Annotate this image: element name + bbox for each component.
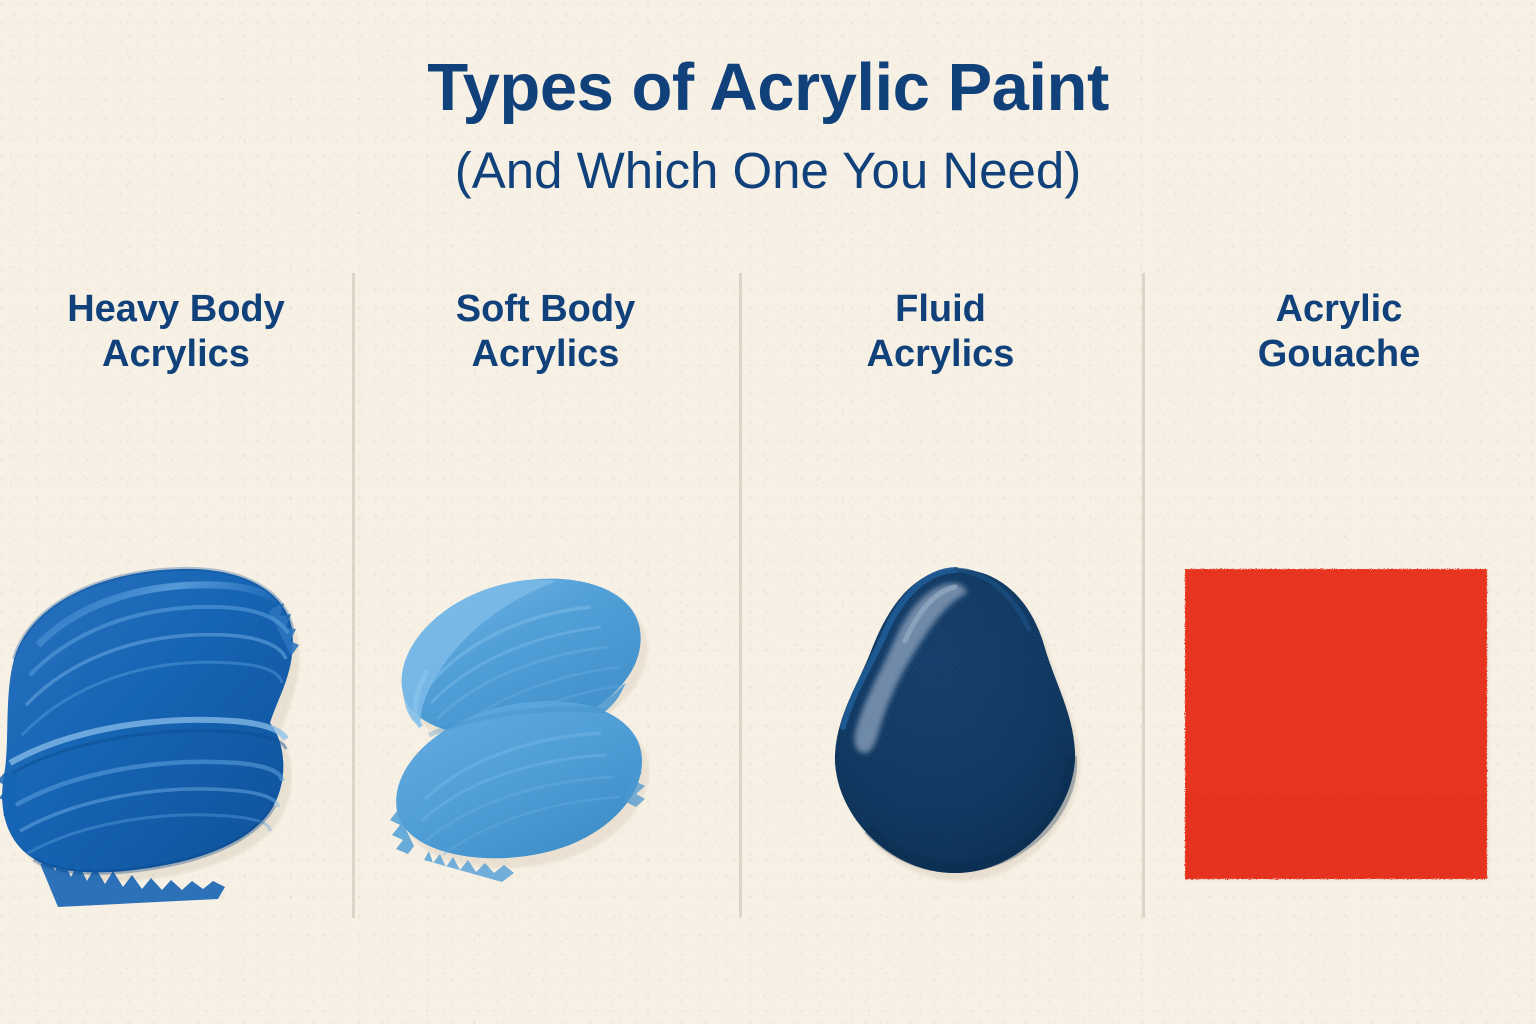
- swatch-area-heavy-body: [0, 377, 352, 918]
- column-acrylic-gouache: Acrylic Gouache: [1142, 273, 1536, 918]
- column-fluid-acrylics: Fluid Acrylics: [739, 273, 1142, 918]
- page-title: Types of Acrylic Paint: [0, 52, 1536, 123]
- swatch-area-fluid: [739, 377, 1142, 918]
- column-soft-body-acrylics: Soft Body Acrylics: [352, 273, 739, 918]
- column-heavy-body-acrylics: Heavy Body Acrylics: [0, 273, 352, 918]
- acrylic-gouache-swatch: [1181, 565, 1491, 883]
- heavy-body-paint-smear: [0, 549, 316, 912]
- column-label-fluid: Fluid Acrylics: [867, 287, 1015, 377]
- column-label-gouache: Acrylic Gouache: [1258, 287, 1421, 377]
- column-label-soft-body: Soft Body Acrylics: [456, 287, 635, 377]
- swatch-area-soft-body: [352, 377, 739, 918]
- header: Types of Acrylic Paint (And Which One Yo…: [0, 0, 1536, 198]
- fluid-paint-drop: [825, 561, 1087, 883]
- soft-body-paint-smear: [369, 555, 675, 900]
- swatch-area-gouache: [1142, 377, 1536, 918]
- column-label-heavy-body: Heavy Body Acrylics: [67, 287, 285, 377]
- paint-type-columns: Heavy Body Acrylics: [0, 273, 1536, 918]
- page-subtitle: (And Which One You Need): [0, 143, 1536, 198]
- acrylic-paint-types-infographic: Types of Acrylic Paint (And Which One Yo…: [0, 0, 1536, 1024]
